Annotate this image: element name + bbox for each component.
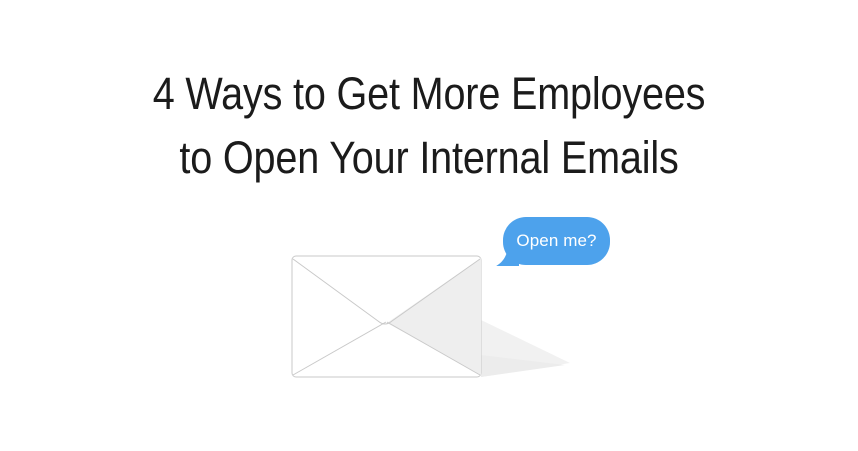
envelope-shape (292, 256, 481, 377)
page-title: 4 Ways to Get More Employees to Open You… (0, 62, 858, 190)
page-title-line-2: to Open Your Internal Emails (51, 126, 806, 190)
speech-bubble[interactable]: Open me? (503, 217, 610, 265)
envelope-shadow (481, 320, 570, 377)
slide-canvas: 4 Ways to Get More Employees to Open You… (0, 0, 858, 451)
speech-bubble-text: Open me? (503, 217, 610, 265)
page-title-line-1: 4 Ways to Get More Employees (51, 62, 806, 126)
